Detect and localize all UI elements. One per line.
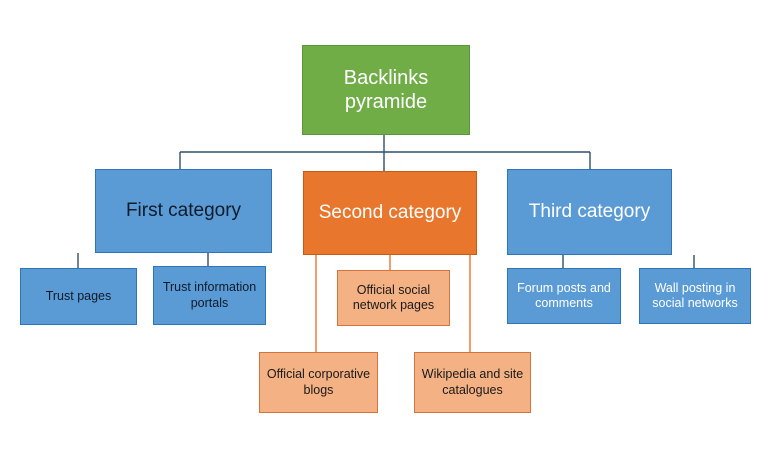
node-trust-pages-label: Trust pages	[21, 289, 136, 304]
node-forum-posts-and-comments[interactable]: Forum posts and comments	[507, 268, 621, 324]
node-wall-posting-in-social-networks-label: Wall posting in social networks	[640, 281, 750, 312]
node-official-social-network-pages[interactable]: Official social network pages	[337, 270, 450, 326]
node-third-category[interactable]: Third category	[507, 169, 672, 255]
node-first-category-label: First category	[96, 199, 271, 222]
node-official-corporative-blogs[interactable]: Official corporative blogs	[259, 352, 378, 413]
node-wikipedia-and-site-catalogues[interactable]: Wikipedia and site catalogues	[414, 352, 531, 413]
node-official-social-network-pages-label: Official social network pages	[338, 283, 449, 314]
node-root[interactable]: Backlinks pyramide	[302, 45, 470, 135]
node-second-category[interactable]: Second category	[303, 171, 477, 255]
node-wikipedia-and-site-catalogues-label: Wikipedia and site catalogues	[415, 367, 530, 398]
node-second-category-label: Second category	[304, 201, 476, 224]
node-official-corporative-blogs-label: Official corporative blogs	[260, 367, 377, 398]
node-trust-pages[interactable]: Trust pages	[20, 268, 137, 325]
node-trust-information-portals-label: Trust information portals	[154, 280, 265, 311]
node-first-category[interactable]: First category	[95, 169, 272, 253]
diagram-canvas: Backlinks pyramide First category Second…	[0, 0, 770, 473]
node-trust-information-portals[interactable]: Trust information portals	[153, 266, 266, 325]
node-forum-posts-and-comments-label: Forum posts and comments	[508, 281, 620, 312]
node-wall-posting-in-social-networks[interactable]: Wall posting in social networks	[639, 268, 751, 324]
node-third-category-label: Third category	[508, 200, 671, 223]
node-root-label: Backlinks pyramide	[303, 66, 469, 115]
